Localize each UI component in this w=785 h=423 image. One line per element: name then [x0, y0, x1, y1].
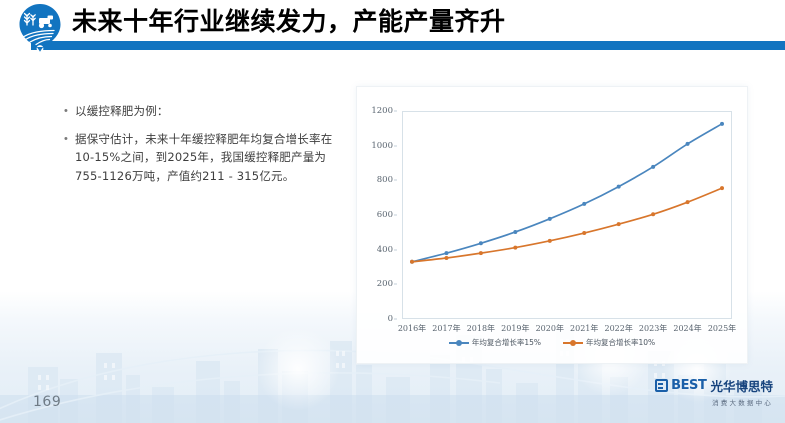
y-axis: 020040060080010001200: [357, 111, 397, 319]
page-title: 未来十年行业继续发力，产能产量齐升: [72, 5, 506, 39]
legend-swatch-icon: [563, 339, 583, 347]
chart-data-point: [582, 231, 586, 235]
x-axis-tick-label: 2018年: [467, 323, 495, 334]
chart-legend: 年均复合增长率15%年均复合增长率10%: [357, 337, 747, 348]
list-item: • 以缓控释肥为例：: [64, 102, 336, 121]
legend-swatch-icon: [449, 339, 469, 347]
chart-data-point: [548, 217, 552, 221]
brand-name: 光华博思特: [710, 376, 773, 395]
chart-series-layer: [402, 111, 732, 319]
y-axis-tick-mark: [394, 145, 397, 146]
chart-data-point: [410, 260, 414, 264]
legend-label: 年均复合增长率15%: [472, 337, 541, 348]
chart-data-point: [651, 165, 655, 169]
chart-data-point: [582, 202, 586, 206]
bullet-dot-icon: •: [64, 130, 75, 148]
y-axis-tick-label: 600: [377, 210, 393, 220]
x-axis-tick-label: 2019年: [501, 323, 529, 334]
chart-data-point: [617, 222, 621, 226]
glow-accent-left: [256, 327, 340, 411]
x-axis-tick-label: 2021年: [570, 323, 598, 334]
legend-item[interactable]: 年均复合增长率10%: [563, 337, 655, 348]
chart-data-point: [617, 185, 621, 189]
chart-data-point: [479, 251, 483, 255]
list-item: • 据保守估计，未来十年缓控释肥年均复合增长率在10-15%之间，到2025年，…: [64, 130, 336, 186]
chart-data-point: [686, 200, 690, 204]
best-emblem-icon: [655, 379, 668, 392]
y-axis-tick-label: 1000: [371, 141, 393, 151]
title-accent-bar: [31, 41, 785, 50]
chart-data-point: [686, 142, 690, 146]
chart-series-line: [412, 124, 722, 262]
x-axis-tick-label: 2017年: [432, 323, 460, 334]
y-axis-tick-mark: [394, 284, 397, 285]
y-axis-tick-label: 800: [377, 175, 393, 185]
x-axis-tick-label: 2022年: [604, 323, 632, 334]
chart-series-line: [412, 188, 722, 262]
y-axis-tick-mark: [394, 249, 397, 250]
brand-logo: BEST 光华博思特 消费大数据中心: [655, 376, 773, 407]
y-axis-tick-mark: [394, 111, 397, 112]
agriculture-pin-icon: [17, 3, 63, 53]
y-axis-tick-label: 400: [377, 245, 393, 255]
chart-panel: 020040060080010001200 2016年2017年2018年201…: [356, 86, 748, 364]
y-axis-tick-label: 1200: [371, 106, 393, 116]
chart-data-point: [720, 122, 724, 126]
bullet-text: 据保守估计，未来十年缓控释肥年均复合增长率在10-15%之间，到2025年，我国…: [75, 130, 336, 186]
x-axis-tick-label: 2023年: [639, 323, 667, 334]
chart-data-point: [720, 186, 724, 190]
chart-data-point: [479, 241, 483, 245]
chart-data-point: [548, 239, 552, 243]
bullet-text: 以缓控释肥为例：: [75, 102, 336, 121]
chart-data-point: [444, 256, 448, 260]
bullet-dot-icon: •: [64, 102, 75, 120]
brand-logo-row: BEST 光华博思特: [655, 376, 773, 395]
x-axis-tick-label: 2025年: [708, 323, 736, 334]
brand-mark: BEST: [671, 378, 706, 393]
x-axis-tick-label: 2020年: [536, 323, 564, 334]
brand-tagline: 消费大数据中心: [712, 397, 773, 407]
page-number: 169: [33, 394, 61, 410]
slide-header: 未来十年行业继续发力，产能产量齐升: [0, 0, 785, 56]
y-axis-tick-mark: [394, 319, 397, 320]
y-axis-tick-mark: [394, 180, 397, 181]
slide-canvas: 未来十年行业继续发力，产能产量齐升 • 以缓控释肥为例： • 据保守估计，未来十…: [0, 0, 785, 423]
legend-item[interactable]: 年均复合增长率15%: [449, 337, 541, 348]
x-axis-tick-label: 2016年: [398, 323, 426, 334]
x-axis-tick-label: 2024年: [673, 323, 701, 334]
legend-label: 年均复合增长率10%: [586, 337, 655, 348]
chart-data-point: [651, 212, 655, 216]
y-axis-tick-label: 200: [377, 279, 393, 289]
y-axis-tick-label: 0: [388, 314, 393, 324]
chart-data-point: [513, 230, 517, 234]
y-axis-tick-mark: [394, 215, 397, 216]
bullet-list: • 以缓控释肥为例： • 据保守估计，未来十年缓控释肥年均复合增长率在10-15…: [64, 102, 336, 194]
chart-data-point: [513, 246, 517, 250]
chart-data-point: [444, 251, 448, 255]
